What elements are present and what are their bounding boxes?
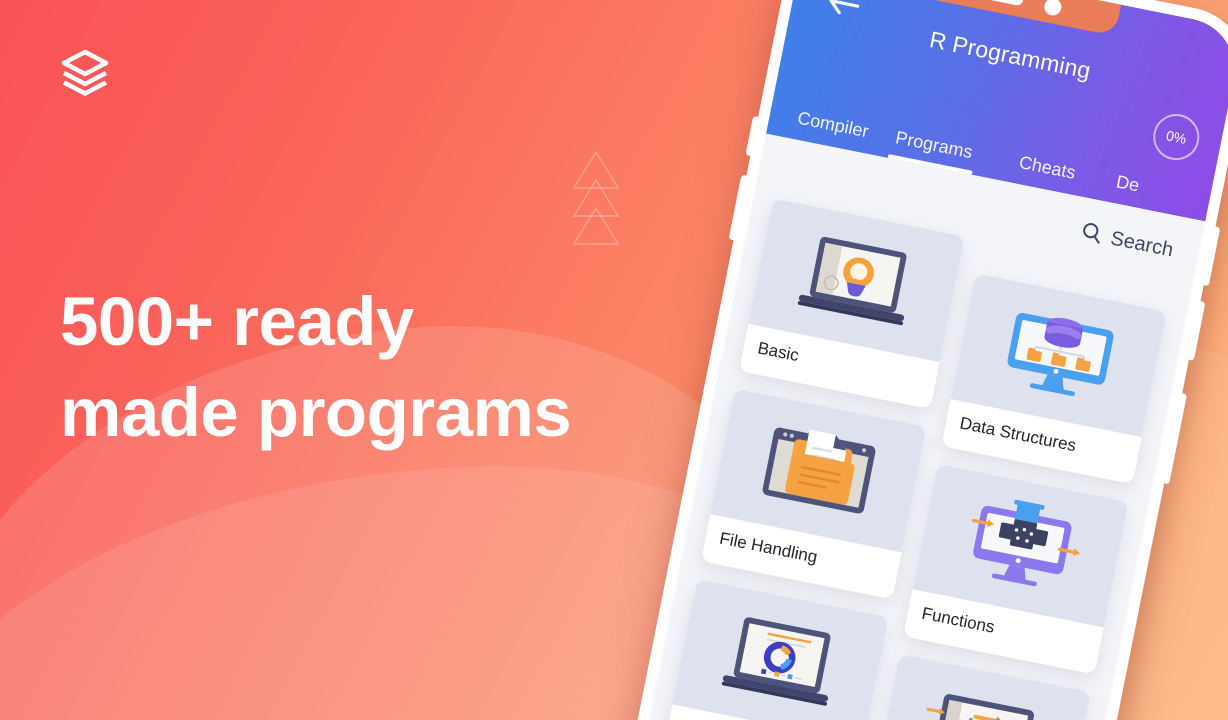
headline-line-2: made programs bbox=[60, 367, 720, 458]
category-card-file-handling[interactable]: File Handling bbox=[701, 389, 927, 600]
category-card-basic[interactable]: Basic bbox=[739, 198, 965, 409]
app-title: R Programming bbox=[788, 0, 1228, 113]
search-input[interactable]: Search bbox=[1109, 227, 1176, 262]
headline-line-1: 500+ ready bbox=[60, 276, 720, 367]
search-icon bbox=[1078, 219, 1105, 250]
laptop-donut-chart-icon bbox=[672, 579, 888, 720]
speaker-pill-icon bbox=[980, 0, 1024, 6]
front-camera-icon bbox=[1043, 0, 1063, 16]
page-title: 500+ ready made programs bbox=[60, 276, 720, 458]
category-card-functions[interactable]: Functions bbox=[903, 464, 1129, 675]
progress-badge[interactable]: 0% bbox=[1149, 110, 1203, 164]
category-card-data-structures[interactable]: Data Structures bbox=[941, 273, 1167, 484]
category-grid: Basic bbox=[656, 198, 1173, 720]
progress-value: 0% bbox=[1165, 127, 1188, 147]
layers-stack-icon bbox=[58, 46, 112, 100]
category-card-graphs[interactable]: Graphs bbox=[663, 579, 889, 720]
stacked-triangles-outline-icon bbox=[566, 148, 626, 248]
